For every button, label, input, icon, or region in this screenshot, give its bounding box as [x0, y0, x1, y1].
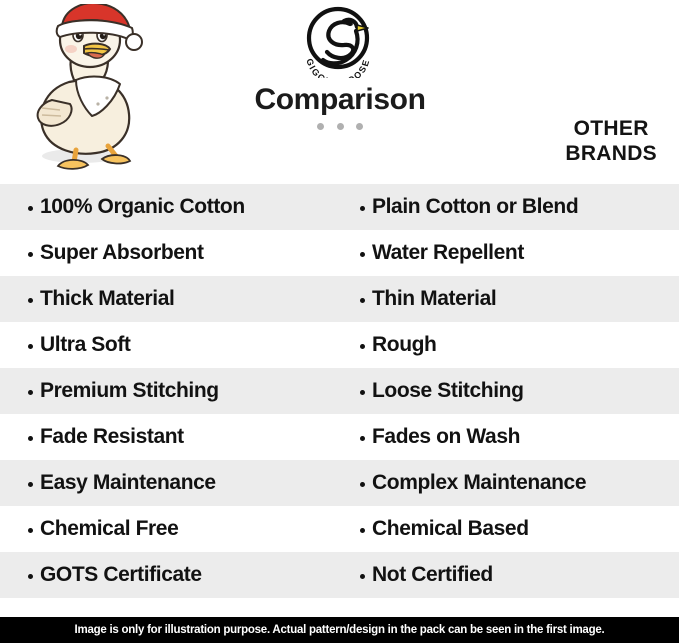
row-cell-ours: Ultra Soft — [0, 333, 355, 357]
row-cell-ours: Chemical Free — [0, 517, 355, 541]
dot-2 — [337, 123, 344, 130]
table-row: Chemical Free Chemical Based — [0, 506, 679, 552]
row-label-other: Complex Maintenance — [372, 471, 586, 495]
footer-disclaimer-text: Image is only for illustration purpose. … — [75, 624, 605, 636]
row-cell-other: Complex Maintenance — [355, 471, 679, 495]
bullet-icon — [28, 528, 33, 533]
bullet-icon — [28, 298, 33, 303]
table-row: GOTS Certificate Not Certified — [0, 552, 679, 598]
row-cell-other: Fades on Wash — [355, 425, 679, 449]
row-cell-other: Loose Stitching — [355, 379, 679, 403]
footer-disclaimer-bar: Image is only for illustration purpose. … — [0, 617, 679, 643]
bullet-icon — [360, 390, 365, 395]
bullet-icon — [28, 482, 33, 487]
row-cell-other: Thin Material — [355, 287, 679, 311]
goose-mascot-icon — [14, 4, 150, 174]
row-label-ours: Super Absorbent — [40, 241, 204, 265]
row-label-other: Rough — [372, 333, 436, 357]
table-row: Premium Stitching Loose Stitching — [0, 368, 679, 414]
row-label-ours: Premium Stitching — [40, 379, 219, 403]
bullet-icon — [360, 482, 365, 487]
header: GIGGLY GOOSE Comparison OTHER BRANDS — [0, 0, 679, 184]
bullet-icon — [360, 574, 365, 579]
table-row: Fade Resistant Fades on Wash — [0, 414, 679, 460]
dots-separator — [180, 123, 500, 130]
dot-1 — [317, 123, 324, 130]
bullet-icon — [360, 528, 365, 533]
dot-3 — [356, 123, 363, 130]
bullet-icon — [28, 344, 33, 349]
bullet-icon — [28, 390, 33, 395]
table-row: 100% Organic Cotton Plain Cotton or Blen… — [0, 184, 679, 230]
row-cell-ours: Fade Resistant — [0, 425, 355, 449]
row-cell-other: Water Repellent — [355, 241, 679, 265]
row-cell-ours: GOTS Certificate — [0, 563, 355, 587]
other-brands-heading: OTHER BRANDS — [565, 116, 657, 166]
table-row: Ultra Soft Rough — [0, 322, 679, 368]
row-label-ours: Fade Resistant — [40, 425, 184, 449]
row-cell-other: Chemical Based — [355, 517, 679, 541]
row-label-ours: Ultra Soft — [40, 333, 131, 357]
row-label-other: Loose Stitching — [372, 379, 524, 403]
bullet-icon — [360, 252, 365, 257]
other-brands-line-2: BRANDS — [565, 141, 657, 166]
table-row: Thick Material Thin Material — [0, 276, 679, 322]
row-cell-other: Plain Cotton or Blend — [355, 195, 679, 219]
row-label-other: Thin Material — [372, 287, 496, 311]
giggly-goose-logo-icon: GIGGLY GOOSE — [294, 4, 382, 78]
row-cell-ours: Easy Maintenance — [0, 471, 355, 495]
other-brands-line-1: OTHER — [565, 116, 657, 141]
row-cell-ours: Premium Stitching — [0, 379, 355, 403]
bullet-icon — [360, 206, 365, 211]
comparison-table: 100% Organic Cotton Plain Cotton or Blen… — [0, 184, 679, 598]
table-row: Easy Maintenance Complex Maintenance — [0, 460, 679, 506]
row-label-other: Chemical Based — [372, 517, 529, 541]
row-label-other: Not Certified — [372, 563, 493, 587]
page-title: Comparison — [180, 83, 500, 117]
bullet-icon — [28, 206, 33, 211]
row-label-other: Plain Cotton or Blend — [372, 195, 578, 219]
row-cell-ours: 100% Organic Cotton — [0, 195, 355, 219]
row-label-ours: Chemical Free — [40, 517, 178, 541]
row-label-ours: GOTS Certificate — [40, 563, 202, 587]
row-label-ours: 100% Organic Cotton — [40, 195, 245, 219]
bullet-icon — [28, 574, 33, 579]
table-row: Super Absorbent Water Repellent — [0, 230, 679, 276]
bullet-icon — [28, 436, 33, 441]
row-cell-ours: Super Absorbent — [0, 241, 355, 265]
bullet-icon — [360, 344, 365, 349]
row-label-other: Water Repellent — [372, 241, 524, 265]
bullet-icon — [28, 252, 33, 257]
row-label-other: Fades on Wash — [372, 425, 520, 449]
row-cell-ours: Thick Material — [0, 287, 355, 311]
row-label-ours: Thick Material — [40, 287, 174, 311]
row-cell-other: Not Certified — [355, 563, 679, 587]
bullet-icon — [360, 298, 365, 303]
row-label-ours: Easy Maintenance — [40, 471, 216, 495]
row-cell-other: Rough — [355, 333, 679, 357]
bullet-icon — [360, 436, 365, 441]
